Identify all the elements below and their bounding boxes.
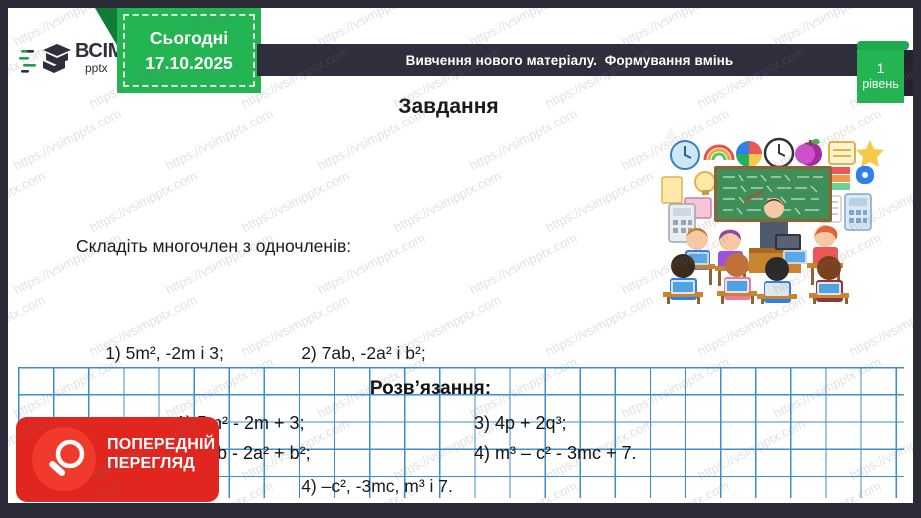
graduation-cap-icon — [42, 42, 72, 81]
watermark-text: https://vsimpptx.com — [315, 8, 427, 49]
watermark-text: https://vsimpptx.com — [619, 8, 731, 49]
watermark-text: https://vsimpptx.com — [8, 292, 47, 359]
level-badge-roll — [857, 41, 909, 50]
watermark-text: https://vsimpptx.com — [543, 292, 655, 359]
slide-canvas: ВСІМ pptx Сьогодні 17.10.2025 Вивчення н… — [8, 8, 913, 503]
watermark-text: https://vsimpptx.com — [467, 8, 579, 49]
task-prompt: Складіть многочлен з одночленів: — [76, 233, 453, 260]
level-badge: 1 рівень — [857, 41, 913, 103]
watermark-text: https://vsimpptx.com — [8, 168, 47, 235]
speed-lines-icon — [19, 48, 41, 79]
task-item-2: 2) 7ab, -2a² і b²; — [301, 343, 426, 363]
watermark-text: https://vsimpptx.com — [467, 230, 579, 297]
watermark-text: https://vsimpptx.com — [543, 168, 655, 235]
lesson-stage-header: Вивчення нового матеріалу. Формування вм… — [257, 44, 882, 76]
today-date: 17.10.2025 — [145, 53, 233, 74]
level-number: 1 — [877, 60, 885, 77]
magnifier-icon — [40, 435, 90, 490]
lesson-stage-title: Вивчення нового матеріалу. Формування вм… — [406, 53, 734, 68]
preview-line-1: ПОПЕРЕДНІЙ — [107, 436, 215, 455]
today-label: Сьогодні — [150, 28, 228, 49]
solution-title: Розв’язання: — [8, 378, 913, 400]
task-item-1: 1) 5m², -2m і 3; — [105, 340, 301, 367]
task-title-text: Завдання — [398, 95, 498, 118]
classroom-illustration — [657, 122, 889, 304]
level-label: рівень — [862, 77, 899, 92]
preview-badge-text: ПОПЕРЕДНІЙ ПЕРЕГЛЯД — [107, 436, 215, 474]
date-badge-body: Сьогодні 17.10.2025 — [117, 8, 261, 93]
today-date-badge: Сьогодні 17.10.2025 — [95, 8, 261, 96]
task-title: Завдання — [8, 95, 913, 119]
solution-answer-3: 3) 4p + 2q³; — [474, 410, 567, 438]
preview-badge[interactable]: ПОПЕРЕДНІЙ ПЕРЕГЛЯД — [16, 417, 219, 502]
preview-line-2: ПЕРЕГЛЯД — [107, 455, 215, 474]
solution-title-text: Розв’язання: — [370, 378, 491, 399]
task-item-4: 4) –c², -3mc, m³ і 7. — [301, 476, 453, 496]
solution-answer-4: 4) m³ – c² - 3mc + 7. — [474, 440, 637, 468]
